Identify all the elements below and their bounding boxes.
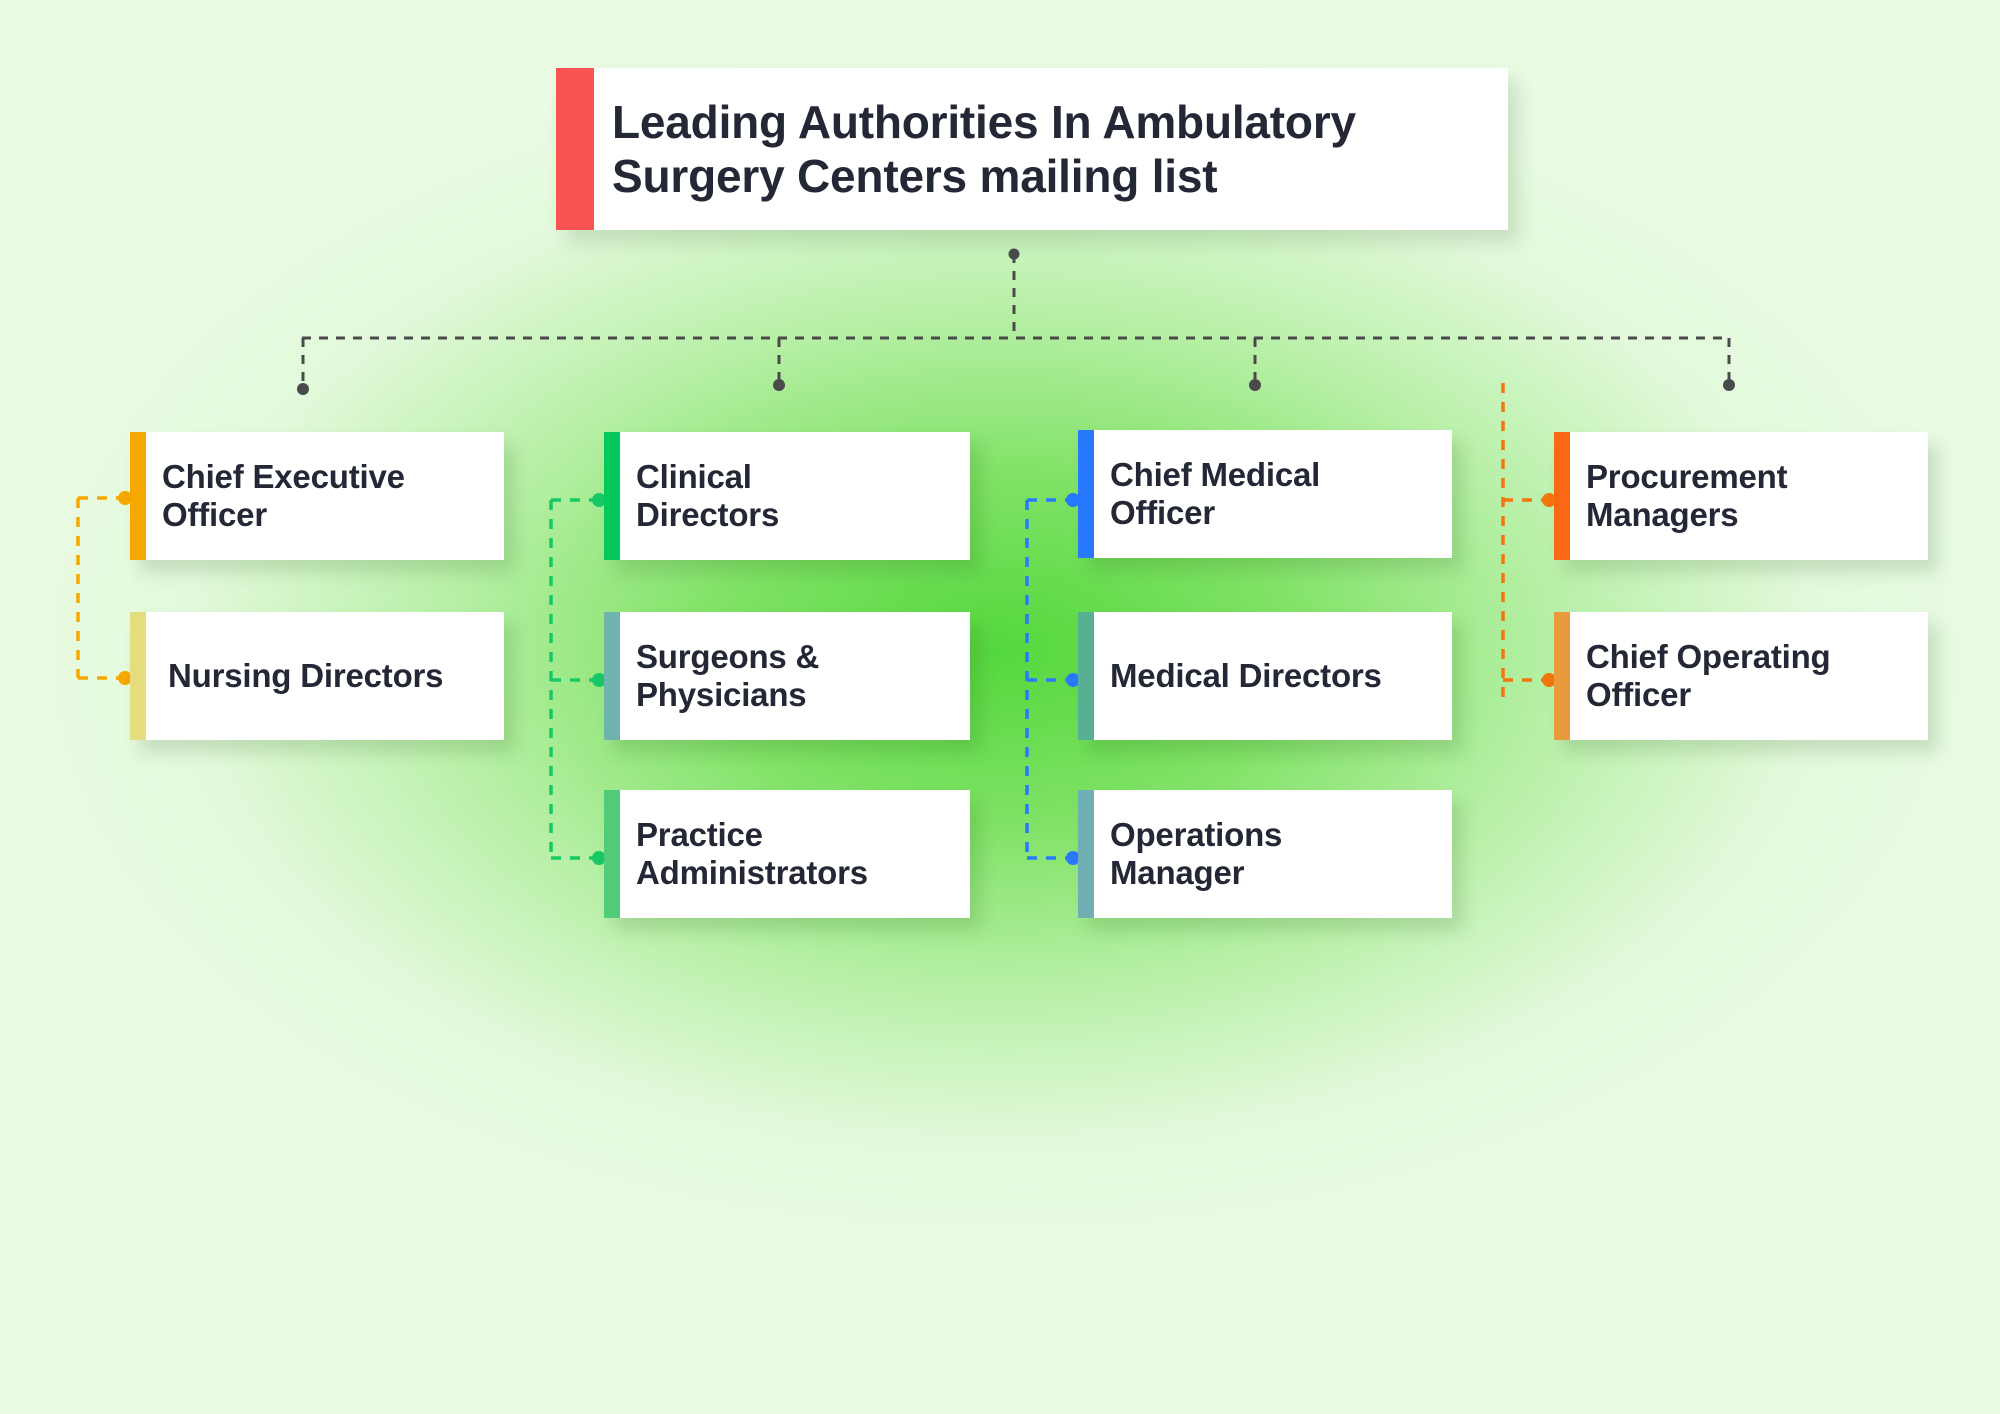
node-label-line-1: Chief Operating [1586, 638, 1831, 676]
node-accent-bar [604, 790, 620, 918]
node-label-line-single: Medical Directors [1110, 657, 1382, 695]
node-clinical-directors[interactable]: Clinical Directors [604, 432, 970, 560]
node-chief-executive-officer[interactable]: Chief Executive Officer [130, 432, 504, 560]
node-chief-operating-officer[interactable]: Chief Operating Officer [1554, 612, 1928, 740]
node-surgeons-physicians[interactable]: Surgeons & Physicians [604, 612, 970, 740]
node-label-line-1: Chief Executive [162, 458, 405, 496]
node-label: Operations Manager [1078, 816, 1296, 893]
chart-title-text: Leading Authorities In Ambulatory Surger… [556, 95, 1370, 204]
node-label: Procurement Managers [1554, 458, 1801, 535]
node-label-line-1: Clinical [636, 458, 779, 496]
branch-4-connector [1503, 383, 1556, 700]
node-accent-bar [1078, 612, 1094, 740]
node-accent-bar [604, 432, 620, 560]
node-label-line-2: Managers [1586, 496, 1787, 534]
node-label-line-2: Officer [162, 496, 405, 534]
node-label: Nursing Directors [130, 657, 457, 695]
node-accent-bar [1554, 432, 1570, 560]
node-label: Chief Executive Officer [130, 458, 419, 535]
node-label-line-1: Operations [1110, 816, 1282, 854]
node-label-line-2: Manager [1110, 854, 1282, 892]
node-label: Surgeons & Physicians [604, 638, 833, 715]
node-medical-directors[interactable]: Medical Directors [1078, 612, 1452, 740]
node-accent-bar [604, 612, 620, 740]
node-label-line-2: Administrators [636, 854, 868, 892]
node-label-line-1: Procurement [1586, 458, 1787, 496]
node-label-line-2: Directors [636, 496, 779, 534]
node-accent-bar [1078, 790, 1094, 918]
title-accent-bar [556, 68, 594, 230]
node-accent-bar [1554, 612, 1570, 740]
trunk-connector [297, 249, 1735, 396]
node-procurement-managers[interactable]: Procurement Managers [1554, 432, 1928, 560]
node-label-line-1: Surgeons & [636, 638, 819, 676]
node-label-line-single: Nursing Directors [168, 657, 443, 695]
node-operations-manager[interactable]: Operations Manager [1078, 790, 1452, 918]
node-accent-bar [1078, 430, 1094, 558]
node-label-line-2: Officer [1586, 676, 1831, 714]
node-label: Chief Medical Officer [1078, 456, 1334, 533]
branch-2-connector [551, 493, 606, 865]
node-accent-bar [130, 432, 146, 560]
node-accent-bar [130, 612, 146, 740]
node-label-line-1: Practice [636, 816, 868, 854]
node-practice-administrators[interactable]: Practice Administrators [604, 790, 970, 918]
node-label: Medical Directors [1078, 657, 1396, 695]
node-label-line-2: Physicians [636, 676, 819, 714]
node-chief-medical-officer[interactable]: Chief Medical Officer [1078, 430, 1452, 558]
node-label-line-1: Chief Medical [1110, 456, 1320, 494]
org-chart-canvas: Leading Authorities In Ambulatory Surger… [0, 0, 2000, 1414]
chart-title-card: Leading Authorities In Ambulatory Surger… [556, 68, 1508, 230]
branch-1-connector [78, 491, 132, 685]
node-nursing-directors[interactable]: Nursing Directors [130, 612, 504, 740]
node-label-line-2: Officer [1110, 494, 1320, 532]
node-label: Chief Operating Officer [1554, 638, 1845, 715]
node-label: Clinical Directors [604, 458, 793, 535]
chart-title-line-2: Surgery Centers mailing list [612, 149, 1356, 203]
node-label: Practice Administrators [604, 816, 882, 893]
chart-title-line-1: Leading Authorities In Ambulatory [612, 95, 1356, 149]
branch-3-connector [1027, 493, 1080, 865]
